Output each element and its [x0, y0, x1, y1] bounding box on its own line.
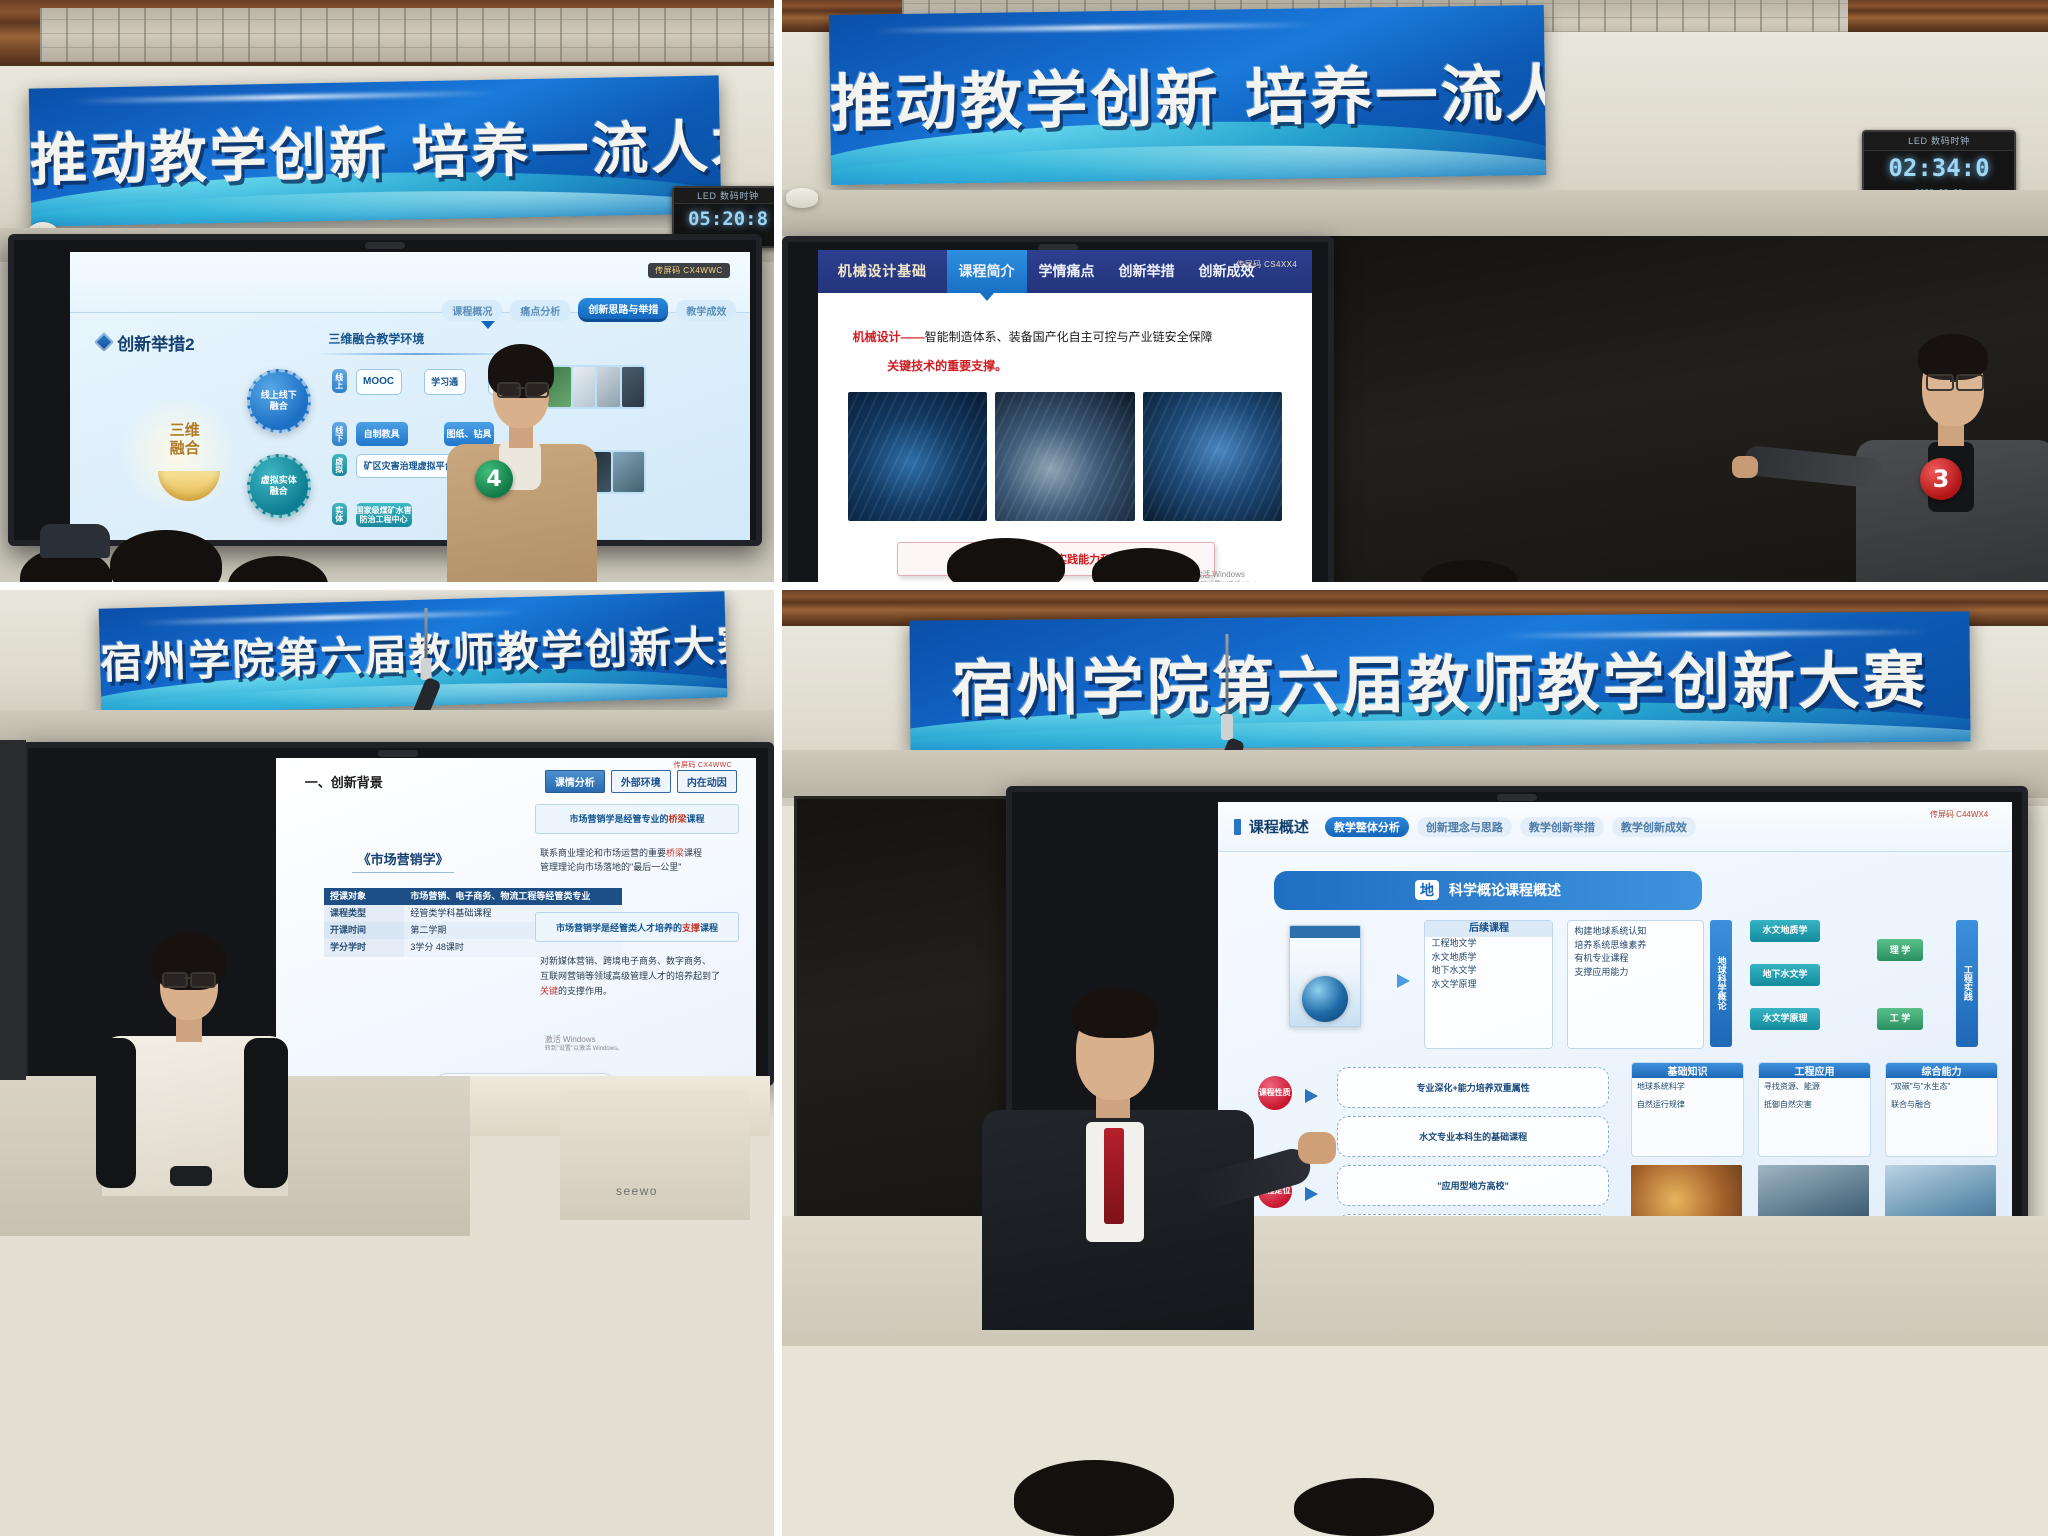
nav-item-3[interactable]: 教学成效 [676, 300, 736, 321]
column-item: 地球系统科学 [1632, 1078, 1743, 1096]
image-ev-chassis [848, 392, 987, 520]
panel-item: 培养系统思维素养 [1568, 939, 1703, 953]
clock-brand-label: LED 数码时钟 [674, 188, 774, 204]
tab-pain-points[interactable]: 学情痛点 [1027, 250, 1107, 293]
slide-lead-line: 机械设计——智能制造体系、装备国产化自主可控与产业链安全保障 [853, 328, 1213, 345]
panel-item: 水文学原理 [1425, 978, 1552, 992]
diamond-icon [94, 332, 114, 352]
audience-head [1294, 1478, 1434, 1536]
column-title: 工程应用 [1759, 1063, 1870, 1078]
chain-item-hydrology-principles: 水文学原理 [1750, 1008, 1820, 1030]
tab-innovation-measures[interactable]: 创新举措 [1107, 250, 1187, 293]
panel-item: 支撑应用能力 [1568, 966, 1703, 980]
panel-item: 工程地文学 [1425, 937, 1552, 951]
presenter-bottom-left [118, 926, 268, 1186]
column-engineering-application: 工程应用 寻找资源、能源 抵御自然灾害 [1758, 1062, 1871, 1157]
column-item: 寻找资源、能源 [1759, 1078, 1870, 1096]
right-vertical-label: 工程实践 [1956, 920, 1978, 1047]
contestant-number-badge: 4 [475, 460, 513, 498]
tag-theory: 理论 [332, 542, 347, 546]
display-camera-icon [378, 750, 418, 757]
tab-innovation-concept[interactable]: 创新理念与思路 [1417, 817, 1512, 837]
fusion-circle-online-offline: 线上线下融合 [247, 369, 311, 433]
tab-innovation-results[interactable]: 教学创新成效 [1612, 817, 1696, 837]
banner-text: 推动教学创新 培养一流人才 [829, 43, 1545, 143]
level-item-0: "应用型地方高校" [1337, 1165, 1609, 1206]
presenter-hair [1072, 988, 1158, 1038]
band-tag: 地 [1415, 880, 1439, 900]
panel-item: 地下水文学 [1425, 964, 1552, 978]
course-nature-badge: 课程性质 [1258, 1076, 1292, 1110]
course-book-title: 《市场营销学》 [358, 849, 449, 868]
item-self-made-teaching-aids: 自制教具 [356, 422, 408, 446]
column-title: 基础知识 [1632, 1063, 1743, 1078]
tab-external-env[interactable]: 外部环境 [611, 770, 671, 793]
tag-physical: 实体 [332, 503, 347, 525]
audience-head [1014, 1460, 1174, 1536]
slide-title: 课程概述 [1249, 816, 1309, 837]
device-brand-label: seewo [616, 1184, 658, 1198]
column-item: 联合与融合 [1886, 1096, 1997, 1114]
slide-tabs[interactable]: 课情分析 外部环境 内在动因 [545, 770, 737, 793]
audience-head [228, 556, 328, 582]
tab-course-intro[interactable]: 课程简介 [947, 250, 1027, 293]
chain-item-hydrogeology: 水文地质学 [1750, 920, 1820, 942]
tab-internal-drivers[interactable]: 内在动因 [677, 770, 737, 793]
banner-text: 宿州学院第六届教师教学创新大赛 [910, 630, 1971, 729]
support-course-paragraph: 对新媒体营销、跨境电子商务、数字商务、 互联网营销等领域高级管理人才的培养起到了… [540, 954, 746, 999]
presenter-bottom-right [1012, 950, 1222, 1330]
tab-course-analysis[interactable]: 课情分析 [545, 770, 605, 793]
cell-key: 学分学时 [324, 939, 404, 956]
display-camera-icon [1497, 794, 1537, 801]
slide-lead-line2: 关键技术的重要支撑。 [887, 357, 1007, 374]
column-item: 自然运行规律 [1632, 1096, 1743, 1114]
panel-item: 构建地球系统认知 [1568, 921, 1703, 939]
image-robot-arm [1143, 392, 1282, 520]
image-row [848, 392, 1283, 520]
slide-title: 创新举措2 [97, 330, 194, 355]
ceiling-speaker [786, 188, 818, 208]
chain-result-engineering: 工 学 [1877, 1008, 1923, 1030]
slide-brand: 机械设计基础 [838, 261, 927, 281]
column-comprehensive-ability: 综合能力 "双碳"与"水生态" 联合与融合 [1885, 1062, 1998, 1157]
item-theory-support: 理论辅助 [356, 542, 406, 546]
chain-item-groundwater: 地下水文学 [1750, 964, 1820, 986]
textbook-cover [1289, 925, 1361, 1027]
item-virtual-platform: 矿区灾害治理虚拟平台 [356, 454, 462, 478]
followup-courses-panel: 后续课程 工程地文学 水文地质学 地下水文学 水文学原理 [1424, 920, 1553, 1049]
quadrant-bottom-left: 宿州学院第六届教师教学创新大赛 传屏码 CX4WWC 一、创新背景 课情分析 外… [0, 590, 782, 1536]
cell-value: 市场营销、电子商务、物流工程等经管类专业 [404, 888, 621, 905]
vertical-course-label: 地球科学概论 [1710, 920, 1732, 1047]
display-camera-icon [365, 242, 405, 249]
banner-text: 推动教学创新 培养一流人才 [29, 102, 720, 197]
hall-banner-top-left: 推动教学创新 培养一流人才 [29, 75, 722, 226]
clock-time: 02:34:0 [1864, 151, 2014, 185]
column-item: 抵御自然灾害 [1759, 1096, 1870, 1114]
cell-key: 课程类型 [324, 905, 404, 922]
slide-marketing-background: 传屏码 CX4WWC 一、创新背景 课情分析 外部环境 内在动因 《市场营销学》… [276, 758, 756, 1086]
podium [560, 1090, 750, 1220]
quadrant-top-right: 推动教学创新 培养一流人才 LED 数码时钟 02:34:0 2025 12 2… [782, 0, 2048, 590]
nature-item-0: 专业深化+能力培养双重属性 [1337, 1067, 1609, 1108]
course-overview-band: 地 科学概论课程概述 [1274, 871, 1703, 910]
clock-time: 05:20:8 [674, 204, 774, 233]
section-title: 三维融合教学环境 [328, 330, 424, 347]
windows-watermark: 激活 Windows 转到"设置"以激活 Windows。 [1194, 570, 1272, 582]
tab-overall-analysis[interactable]: 教学整体分析 [1325, 817, 1409, 837]
slide-marker-icon [1234, 819, 1241, 835]
column-title: 综合能力 [1886, 1063, 1997, 1078]
tab-innovation-measures[interactable]: 教学创新举措 [1520, 817, 1604, 837]
slide-mechanical-design: 机械设计基础 课程简介 学情痛点 创新举措 创新成效 传屏码 CS4XX4 机械… [818, 250, 1312, 582]
fusion-label: 三维 融合 [145, 422, 225, 458]
nav-item-1[interactable]: 痛点分析 [510, 300, 570, 321]
support-panel: 构建地球系统认知 培养系统思维素养 有机专业课程 支撑应用能力 [1567, 920, 1704, 1049]
tag-offline: 线下 [332, 422, 347, 446]
support-course-chip: 市场营销学是经管类人才培养的支撑课程 [535, 912, 739, 942]
tag-virtual: 虚拟 [332, 454, 347, 476]
presenter-top-right: 3 [1870, 322, 2040, 582]
quadrant-top-left: 推动教学创新 培养一流人才 LED 数码时钟 05:20:8 2025 12 2… [0, 0, 782, 590]
nature-item-1: 水文专业本科生的基础课程 [1337, 1116, 1609, 1157]
panel-item: 有机专业课程 [1568, 952, 1703, 966]
fusion-circle-virtual-physical: 虚拟实体融合 [247, 454, 311, 518]
clock-brand-label: LED 数码时钟 [1864, 132, 2014, 151]
hall-banner-bottom-right: 宿州学院第六届教师教学创新大赛 [909, 611, 1970, 750]
item-national-center: 国家级煤矿水害防治工程中心 [356, 503, 412, 527]
slide-geoscience-overview: 课程概述 教学整体分析 创新理念与思路 教学创新举措 教学创新成效 传屏码 C4… [1218, 802, 2012, 1258]
interactive-display-top-right[interactable]: 机械设计基础 课程简介 学情痛点 创新举措 创新成效 传屏码 CS4XX4 机械… [782, 236, 1334, 582]
screen-share-code: 传屏码 C44WX4 [1930, 809, 1988, 820]
presenter-top-left: 4 [455, 330, 585, 582]
tag-online: 线上 [332, 369, 347, 393]
column-item: "双碳"与"水生态" [1886, 1078, 1997, 1096]
column-basic-knowledge: 基础知识 地球系统科学 自然运行规律 [1631, 1062, 1744, 1157]
windows-watermark: 激活 Windows 转到"设置"以激活 Windows。 [545, 1035, 623, 1054]
tab-innovation-results[interactable]: 创新成效 [1187, 250, 1267, 293]
screen-share-code: 传屏码 CS4XX4 [1236, 259, 1297, 270]
contestant-number-badge: 3 [1920, 458, 1962, 500]
screen-share-code: 传屏码 CX4WWC [674, 760, 732, 770]
fusion-circle-theory-practice: 理论实践融合 [247, 542, 309, 546]
chain-result-science: 理 学 [1877, 939, 1923, 961]
hall-banner-top-right: 推动教学创新 培养一流人才 [829, 5, 1546, 185]
slide-innovation-measures: 传屏码 CX4WWC 创新举措2 课程概况 痛点分析 创新思路与举措 教学成效 … [70, 252, 750, 546]
panel-header: 后续课程 [1425, 921, 1552, 937]
interactive-display-top-left[interactable]: 传屏码 CX4WWC 创新举措2 课程概况 痛点分析 创新思路与举措 教学成效 … [8, 234, 762, 546]
slide-nav[interactable]: 课程概况 痛点分析 创新思路与举措 教学成效 [442, 298, 736, 322]
panel-item: 水文地质学 [1425, 951, 1552, 965]
item-mooc: MOOC [356, 369, 402, 395]
nav-item-0[interactable]: 课程概况 [442, 300, 502, 321]
bridge-course-chip: 市场营销学是经管专业的桥梁课程 [535, 804, 739, 834]
screen-share-code: 传屏码 CX4WWC [648, 263, 729, 278]
slide-heading: 一、创新背景 [305, 772, 383, 791]
cell-key: 授课对象 [324, 888, 404, 905]
bridge-course-paragraph: 联系商业理论和市场运营的重要桥梁课程 管理理论向市场落地的"最后一公里" [540, 846, 742, 876]
quadrant-bottom-right: 宿州学院第六届教师教学创新大赛 亏 课程概述 教学 [782, 590, 2048, 1536]
presenter-tie [1104, 1128, 1124, 1224]
cell-key: 开课时间 [324, 922, 404, 939]
nav-item-2[interactable]: 创新思路与举措 [578, 298, 668, 322]
photo-collage: 推动教学创新 培养一流人才 LED 数码时钟 05:20:8 2025 12 2… [0, 0, 2048, 1536]
table-row: 授课对象 市场营销、电子商务、物流工程等经管类专业 [324, 888, 622, 905]
image-space-station [995, 392, 1134, 520]
